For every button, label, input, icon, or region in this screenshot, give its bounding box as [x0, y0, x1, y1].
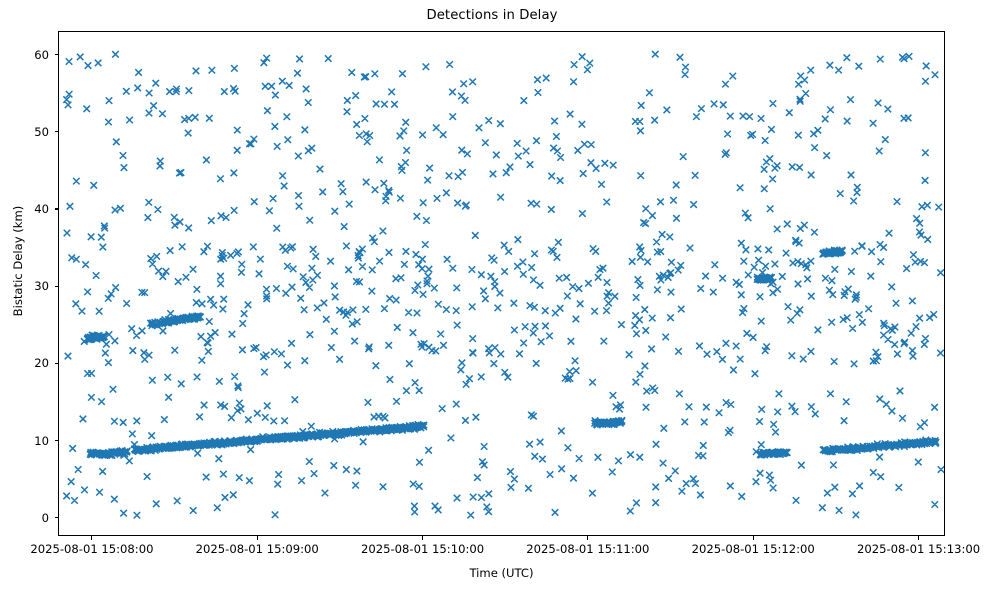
y-tickmark — [55, 131, 59, 132]
x-tick-label-4: 2025-08-01 15:12:00 — [692, 542, 815, 556]
plot-axes — [58, 31, 945, 536]
matplotlib-figure: Detections in Delay 0102030405060 2025-0… — [0, 0, 984, 590]
scatter-layer — [59, 32, 945, 536]
x-axis-label: Time (UTC) — [58, 566, 945, 580]
x-tick-label-1: 2025-08-01 15:09:00 — [196, 542, 319, 556]
x-tickmark — [753, 536, 754, 540]
y-tick-label-20: 20 — [0, 356, 49, 370]
x-tickmark — [91, 536, 92, 540]
page-title: Detections in Delay — [0, 8, 984, 23]
x-tickmark — [918, 536, 919, 540]
x-tickmark — [587, 536, 588, 540]
y-tickmark — [55, 208, 59, 209]
y-tick-label-60: 60 — [0, 48, 49, 62]
x-tick-label-5: 2025-08-01 15:13:00 — [857, 542, 980, 556]
y-tickmark — [55, 440, 59, 441]
x-tick-label-2: 2025-08-01 15:10:00 — [361, 542, 484, 556]
y-tickmark — [55, 286, 59, 287]
y-tickmark — [55, 517, 59, 518]
y-axis-label: Bistatic Delay (km) — [11, 171, 25, 351]
x-tickmark — [257, 536, 258, 540]
y-tick-label-50: 50 — [0, 125, 49, 139]
x-tick-label-3: 2025-08-01 15:11:00 — [526, 542, 649, 556]
y-tickmark — [55, 54, 59, 55]
y-tick-label-0: 0 — [0, 511, 49, 525]
x-tickmark — [422, 536, 423, 540]
x-tick-label-0: 2025-08-01 15:08:00 — [30, 542, 153, 556]
scatter-markers — [63, 51, 944, 519]
y-tick-label-10: 10 — [0, 434, 49, 448]
y-tickmark — [55, 363, 59, 364]
scatter-marker-path — [63, 51, 944, 519]
